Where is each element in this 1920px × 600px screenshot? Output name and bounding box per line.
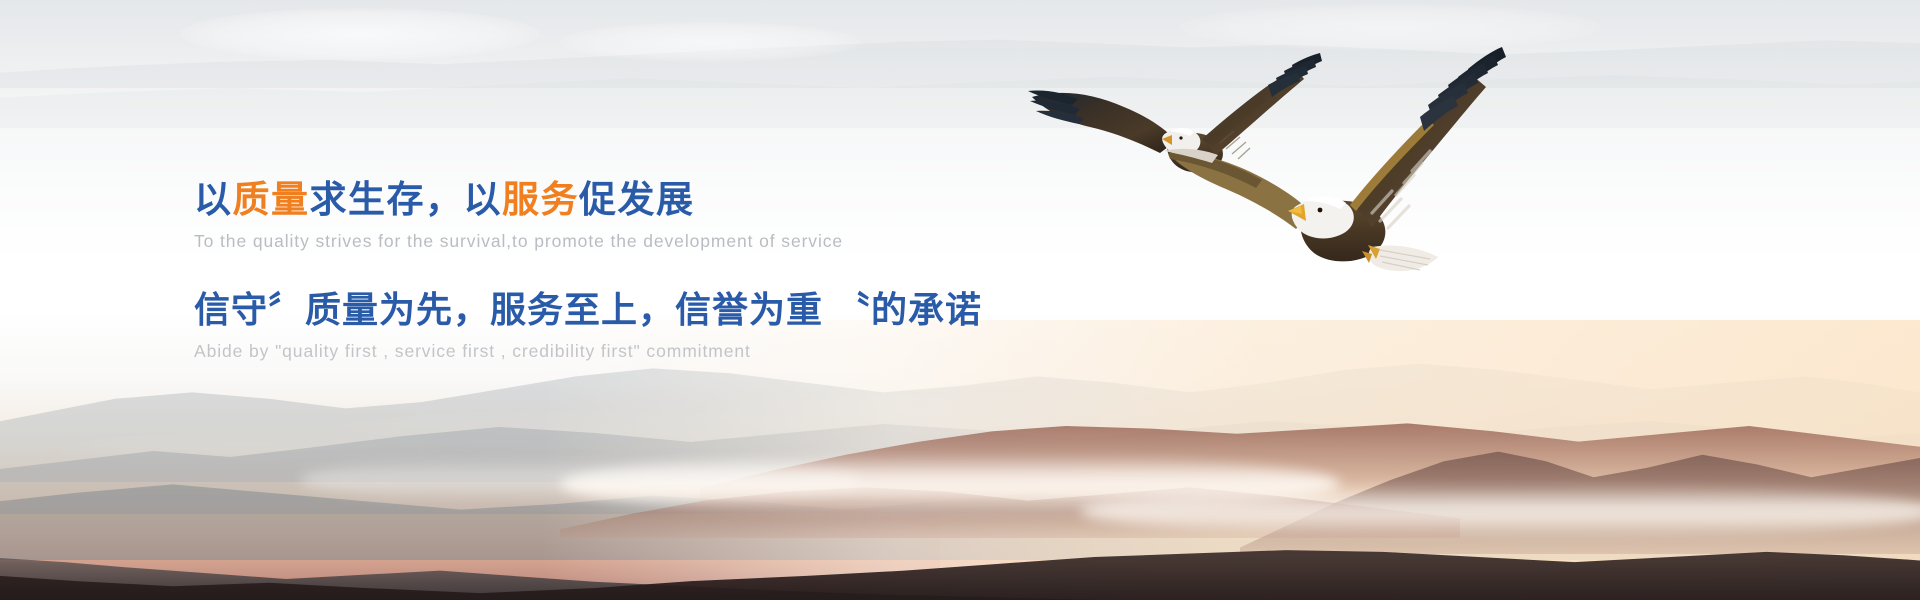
headline-primary: 以质量求生存，以服务促发展 [194, 178, 1294, 222]
headline-primary-seg-2: 求生存，以 [310, 179, 503, 220]
headline-primary-seg-0: 以 [194, 179, 233, 220]
subtitle-secondary: Abide by "quality first , service first … [194, 338, 1294, 364]
slogan-text-block: 以质量求生存，以服务促发展 To the quality strives for… [194, 178, 1294, 364]
mist-band-right [1080, 484, 1920, 538]
sky-cloud-1 [180, 8, 540, 60]
eagle-small [1028, 53, 1322, 184]
hero-banner: 以质量求生存，以服务促发展 To the quality strives for… [0, 0, 1920, 600]
headline-primary-seg-4: 促发展 [579, 179, 695, 220]
subtitle-primary: To the quality strives for the survival,… [194, 228, 1294, 254]
headline-secondary: 信守〞质量为先，服务至上，信誉为重 〝的承诺 [194, 288, 1294, 331]
headline-primary-seg-1-highlight: 质量 [233, 179, 310, 220]
sky-cloud-2 [560, 22, 860, 62]
headline-primary-seg-3-highlight: 服务 [502, 179, 579, 220]
